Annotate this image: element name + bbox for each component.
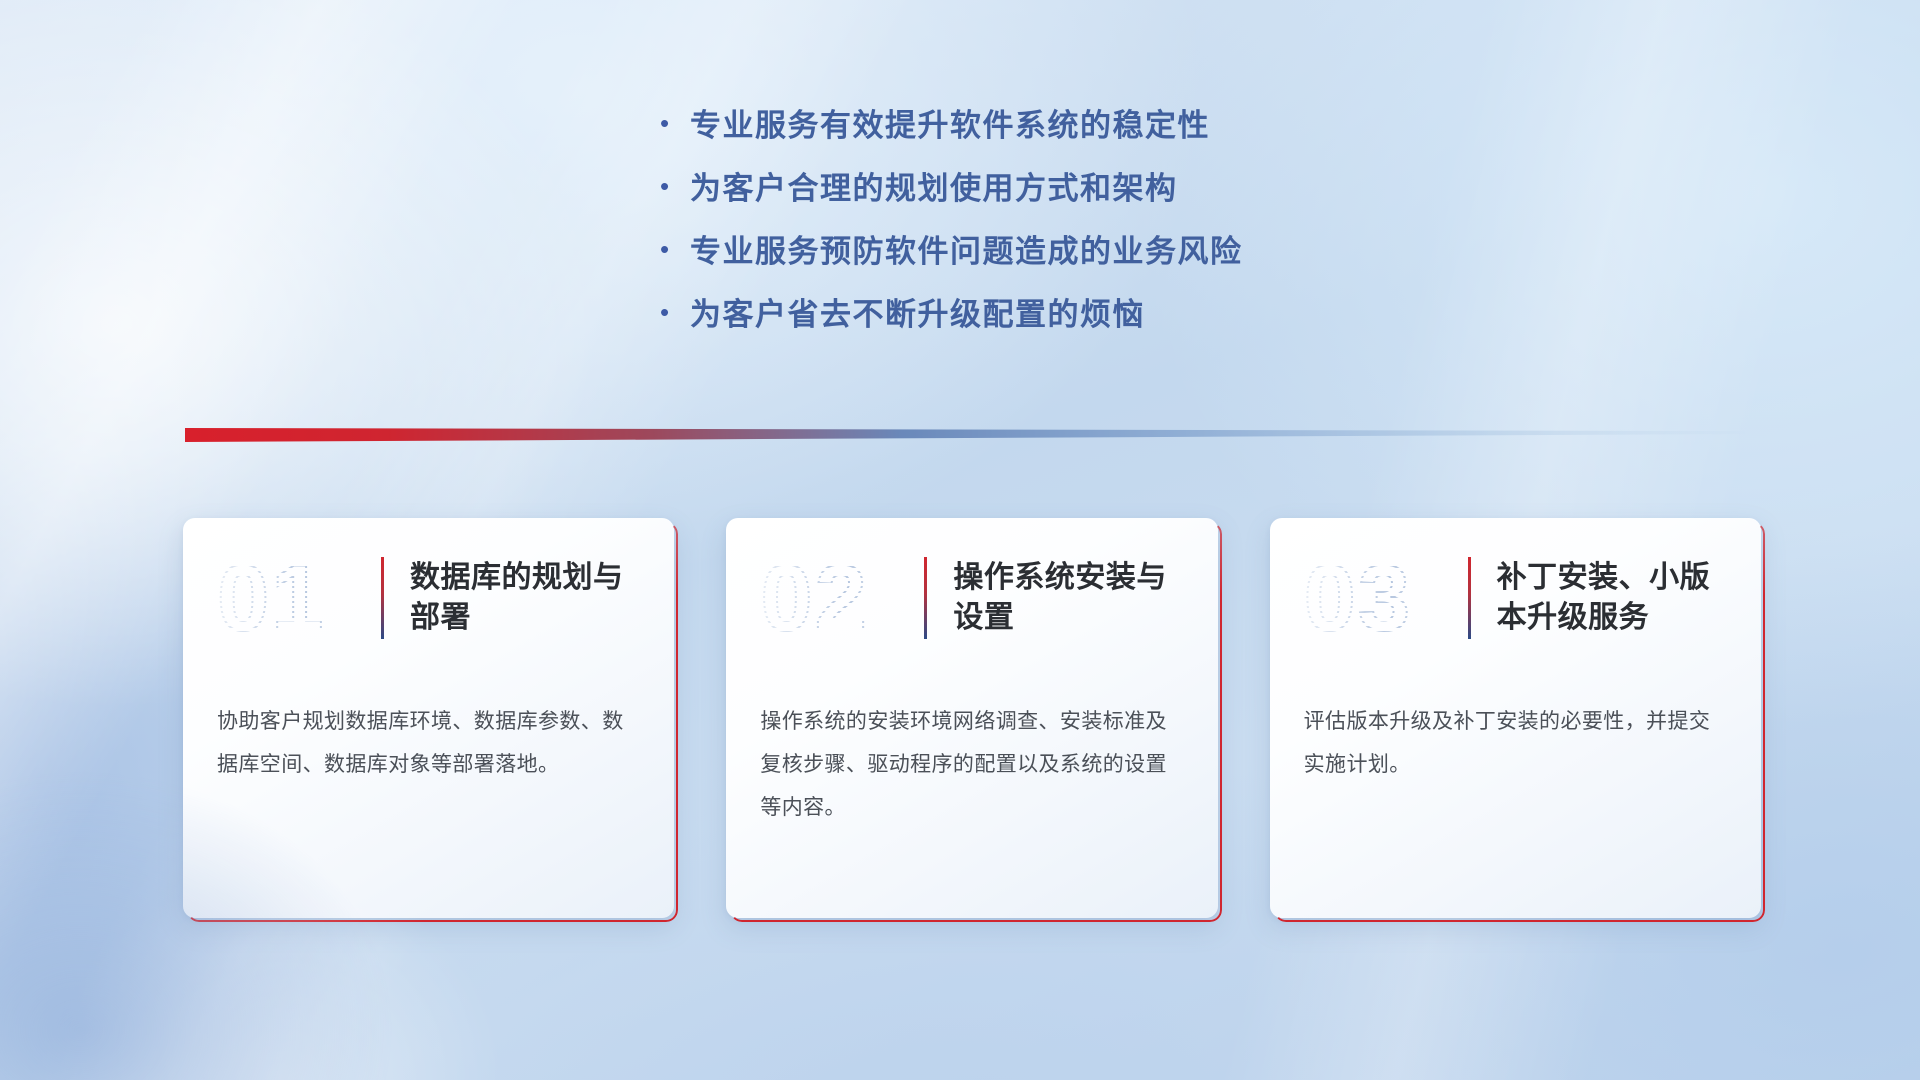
card-title-03: 补丁安装、小版本升级服务 — [1497, 558, 1731, 638]
bullet-text-2: 为客户合理的规划使用方式和架构 — [690, 173, 1178, 204]
card-body-01: 协助客户规划数据库环境、数据库参数、数据库空间、数据库对象等部署落地。 — [183, 700, 674, 786]
card-title-02: 操作系统安装与设置 — [953, 558, 1187, 638]
card-number-03: 03 — [1304, 551, 1464, 645]
bullet-text-1: 专业服务有效提升软件系统的稳定性 — [690, 110, 1210, 141]
bullet-dot-icon: • — [660, 173, 690, 199]
list-item: • 专业服务预防软件问题造成的业务风险 — [660, 236, 1480, 267]
service-card-03[interactable]: 03 补丁安装、小版本升级服务 评估版本升级及补丁安装的必要性，并提交实施计划。 — [1270, 518, 1761, 918]
bullet-dot-icon: • — [660, 110, 690, 136]
card-header: 02 操作系统安装与设置 — [726, 518, 1217, 678]
benefits-bullet-list: • 专业服务有效提升软件系统的稳定性 • 为客户合理的规划使用方式和架构 • 专… — [660, 110, 1480, 362]
divider-shape-icon — [185, 424, 1745, 446]
service-card-01[interactable]: 01 数据库的规划与部署 协助客户规划数据库环境、数据库参数、数据库空间、数据库… — [183, 518, 674, 918]
card-number-02: 02 — [760, 551, 920, 645]
card-body-03: 评估版本升级及补丁安装的必要性，并提交实施计划。 — [1270, 700, 1761, 786]
service-card-02[interactable]: 02 操作系统安装与设置 操作系统的安装环境网络调查、安装标准及复核步骤、驱动程… — [726, 518, 1217, 918]
bullet-dot-icon: • — [660, 299, 690, 325]
card-accent-rule — [924, 557, 927, 639]
list-item: • 为客户合理的规划使用方式和架构 — [660, 173, 1480, 204]
card-header: 01 数据库的规划与部署 — [183, 518, 674, 678]
bullet-dot-icon: • — [660, 236, 690, 262]
card-accent-rule — [1468, 557, 1471, 639]
card-title-01: 数据库的规划与部署 — [410, 558, 644, 638]
card-header: 03 补丁安装、小版本升级服务 — [1270, 518, 1761, 678]
list-item: • 为客户省去不断升级配置的烦恼 — [660, 299, 1480, 330]
card-body-02: 操作系统的安装环境网络调查、安装标准及复核步骤、驱动程序的配置以及系统的设置等内… — [726, 700, 1217, 829]
list-item: • 专业服务有效提升软件系统的稳定性 — [660, 110, 1480, 141]
card-number-01: 01 — [217, 551, 377, 645]
card-accent-rule — [381, 557, 384, 639]
section-divider — [185, 424, 1745, 446]
slide-canvas: • 专业服务有效提升软件系统的稳定性 • 为客户合理的规划使用方式和架构 • 专… — [0, 0, 1920, 1080]
bullet-text-4: 为客户省去不断升级配置的烦恼 — [690, 299, 1145, 330]
bullet-text-3: 专业服务预防软件问题造成的业务风险 — [690, 236, 1243, 267]
service-card-row: 01 数据库的规划与部署 协助客户规划数据库环境、数据库参数、数据库空间、数据库… — [183, 518, 1761, 918]
